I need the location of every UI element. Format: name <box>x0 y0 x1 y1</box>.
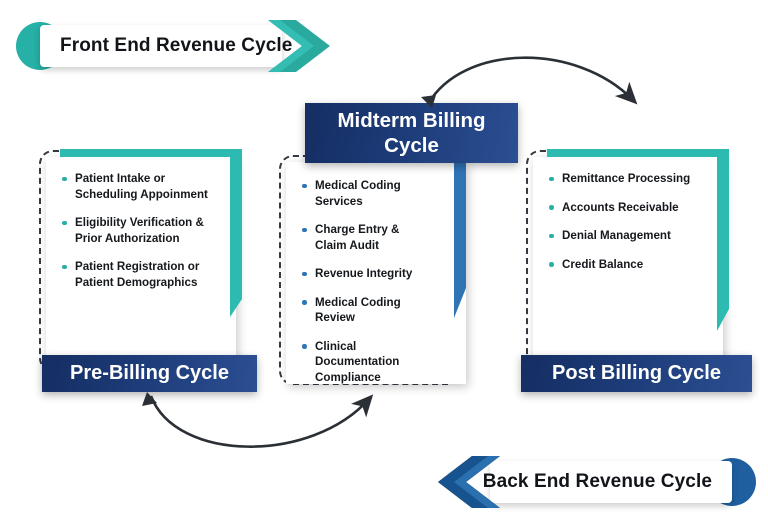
list-item: Denial Management <box>549 228 697 244</box>
back-end-revenue-cycle-banner[interactable]: Back End Revenue Cycle <box>432 458 756 506</box>
bottom-arc-connector <box>151 396 369 447</box>
back-end-banner-label: Back End Revenue Cycle <box>483 458 712 506</box>
stage-title-line-1: Midterm Billing <box>337 108 485 133</box>
bottom-arc-start-arrowhead <box>142 392 157 406</box>
list-item: Revenue Integrity <box>302 266 432 282</box>
card-item-list: Patient Intake or Scheduling Appoinment … <box>62 171 210 303</box>
stage-title-line-2: Cycle <box>384 133 439 158</box>
stage-title-midterm-billing[interactable]: Midterm Billing Cycle <box>305 103 518 163</box>
list-item: Clinical Documentation Compliance <box>302 339 432 386</box>
list-item: Patient Registration or Patient Demograp… <box>62 259 210 290</box>
card-panel: Patient Intake or Scheduling Appoinment … <box>46 157 236 369</box>
list-item: Accounts Receivable <box>549 200 697 216</box>
diagram-canvas: Front End Revenue Cycle Back End Revenue… <box>0 0 768 532</box>
list-item: Remittance Processing <box>549 171 697 187</box>
list-item: Credit Balance <box>549 257 697 273</box>
list-item: Charge Entry & Claim Audit <box>302 222 432 253</box>
card-item-list: Medical Coding Services Charge Entry & C… <box>302 178 432 398</box>
top-arc-connector <box>428 58 633 104</box>
front-end-revenue-cycle-banner[interactable]: Front End Revenue Cycle <box>16 22 336 70</box>
list-item: Eligibility Verification & Prior Authori… <box>62 215 210 246</box>
list-item: Patient Intake or Scheduling Appoinment <box>62 171 210 202</box>
card-panel: Medical Coding Services Charge Entry & C… <box>286 162 466 384</box>
list-item: Medical Coding Review <box>302 295 432 326</box>
stage-title-post-billing[interactable]: Post Billing Cycle <box>521 355 752 392</box>
stage-title-pre-billing[interactable]: Pre-Billing Cycle <box>42 355 257 392</box>
card-item-list: Remittance Processing Accounts Receivabl… <box>549 171 697 285</box>
front-end-banner-label: Front End Revenue Cycle <box>60 22 292 70</box>
card-panel: Remittance Processing Accounts Receivabl… <box>533 157 723 369</box>
list-item: Medical Coding Services <box>302 178 432 209</box>
